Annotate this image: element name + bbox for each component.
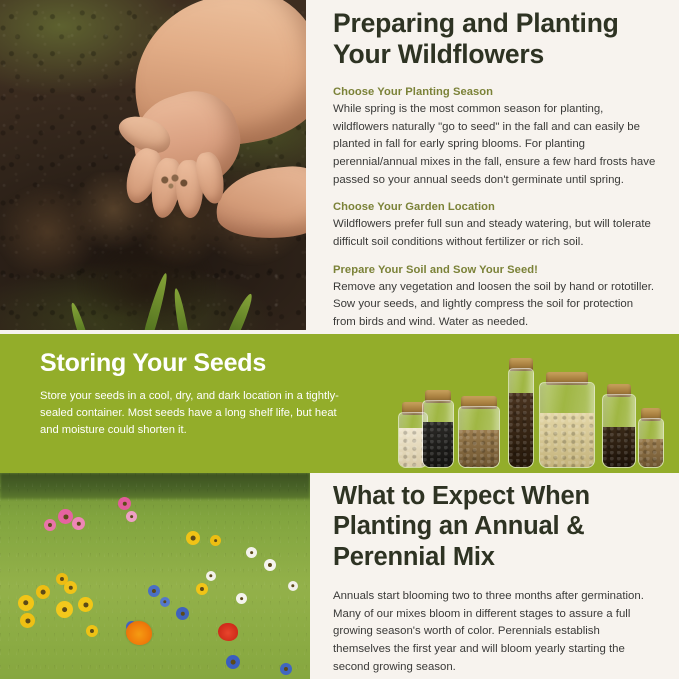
hands-planting-seeds-image	[0, 0, 306, 330]
flower-blue	[148, 585, 160, 597]
storing-text-column: Storing Your Seeds Store your seeds in a…	[40, 350, 340, 439]
flower-blue	[280, 663, 292, 675]
flower-yellow	[18, 595, 34, 611]
wildflower-meadow-image	[0, 473, 310, 679]
block-garden-location: Choose Your Garden Location Wildflowers …	[333, 201, 657, 251]
expect-heading: What to Expect When Planting an Annual &…	[333, 481, 657, 572]
expect-body: Annuals start blooming two to three mont…	[333, 588, 657, 676]
subheading-planting-season: Choose Your Planting Season	[333, 86, 657, 98]
seed-jar	[422, 390, 454, 468]
flower-yellow	[86, 625, 98, 637]
block-planting-season: Choose Your Planting Season While spring…	[333, 86, 657, 189]
infographic-page: Preparing and Planting Your Wildflowers …	[0, 0, 679, 679]
flower-red-poppy	[218, 623, 238, 641]
preparing-heading: Preparing and Planting Your Wildflowers	[333, 8, 657, 70]
flower-white	[236, 593, 247, 604]
seeds-in-hand	[158, 172, 192, 192]
body-prepare-soil: Remove any vegetation and loosen the soi…	[333, 279, 657, 332]
flower-yellow	[36, 585, 50, 599]
flower-white	[206, 571, 216, 581]
flower-orange-poppy	[126, 621, 152, 645]
grass-texture	[0, 473, 310, 679]
flower-pink	[126, 511, 137, 522]
section-what-to-expect: What to Expect When Planting an Annual &…	[0, 473, 679, 679]
section-preparing-and-planting: Preparing and Planting Your Wildflowers …	[0, 0, 679, 334]
section-storing-your-seeds: Storing Your Seeds Store your seeds in a…	[0, 334, 679, 473]
preparing-text-column: Preparing and Planting Your Wildflowers …	[333, 8, 657, 344]
flower-blue	[176, 607, 189, 620]
flower-yellow	[56, 601, 73, 618]
flower-white	[288, 581, 298, 591]
flower-pink	[72, 517, 85, 530]
seed-jar	[458, 396, 500, 468]
storing-heading: Storing Your Seeds	[40, 350, 340, 378]
seed-jar	[539, 372, 595, 468]
seed-jar	[602, 384, 636, 468]
subheading-prepare-soil: Prepare Your Soil and Sow Your Seed!	[333, 264, 657, 276]
flower-white	[246, 547, 257, 558]
flower-blue	[226, 655, 240, 669]
flower-yellow	[78, 597, 93, 612]
flower-yellow	[196, 583, 208, 595]
seed-jar	[508, 358, 534, 468]
flower-yellow	[56, 573, 68, 585]
flower-blue	[160, 597, 170, 607]
flower-yellow	[20, 613, 35, 628]
flower-pink	[44, 519, 56, 531]
body-planting-season: While spring is the most common season f…	[333, 101, 657, 189]
flower-pink	[118, 497, 131, 510]
flower-yellow	[210, 535, 221, 546]
flower-pink	[58, 509, 73, 524]
storing-body: Store your seeds in a cool, dry, and dar…	[40, 388, 340, 439]
body-garden-location: Wildflowers prefer full sun and steady w…	[333, 216, 657, 251]
expect-text-column: What to Expect When Planting an Annual &…	[333, 481, 657, 676]
flower-white	[264, 559, 276, 571]
block-prepare-soil: Prepare Your Soil and Sow Your Seed! Rem…	[333, 264, 657, 332]
seed-jars-image	[386, 346, 676, 473]
flower-yellow	[186, 531, 200, 545]
seed-jar	[638, 408, 664, 468]
subheading-garden-location: Choose Your Garden Location	[333, 201, 657, 213]
